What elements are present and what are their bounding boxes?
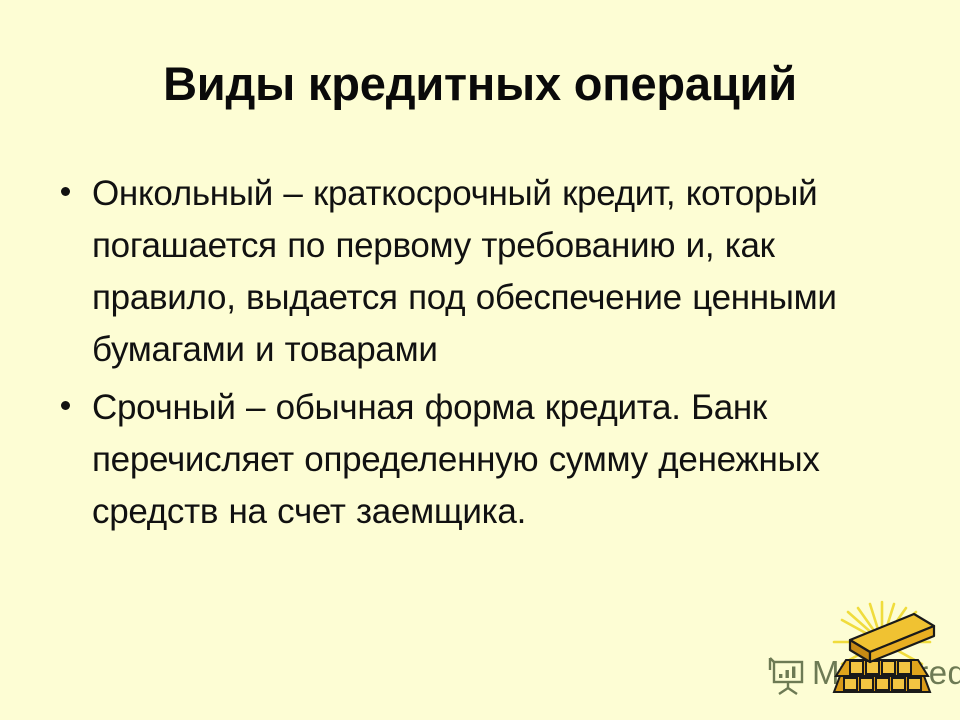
myshared-watermark: MyShared <box>760 600 956 712</box>
slide-body: Онкольный – краткосрочный кредит, которы… <box>48 168 928 538</box>
gold-bars-icon <box>816 600 946 700</box>
list-item-text: Срочный – обычная форма кредита. Банк пе… <box>92 388 820 531</box>
list-item: Онкольный – краткосрочный кредит, которы… <box>48 168 928 376</box>
presentation-chart-icon <box>766 654 810 696</box>
bullet-dot-icon <box>61 187 70 196</box>
page-title: Виды кредитных операций <box>40 56 920 112</box>
list-item: Срочный – обычная форма кредита. Банк пе… <box>48 382 928 538</box>
bullet-dot-icon <box>61 401 70 410</box>
list-item-text: Онкольный – краткосрочный кредит, которы… <box>92 174 837 369</box>
presentation-slide: Виды кредитных операций Онкольный – крат… <box>0 0 960 720</box>
